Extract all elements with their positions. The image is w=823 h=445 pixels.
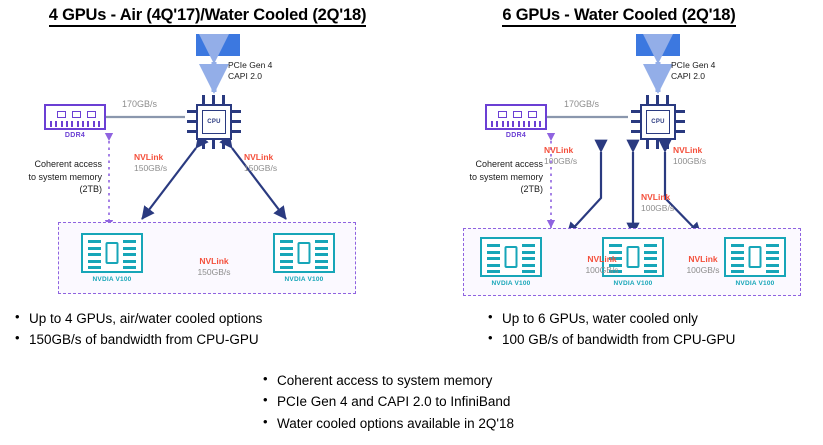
ddr4-module-left: DDR4 [44, 104, 106, 139]
nvlink-name: NVLink [675, 254, 731, 265]
bullets-shared: Coherent access to system memory PCIe Ge… [262, 370, 514, 434]
nvlink-rate: 100GB/s [585, 265, 618, 275]
cpu-label-right: CPU [651, 119, 665, 125]
ddr4-label-right: DDR4 [485, 132, 547, 139]
cpu-body-left: CPU [196, 104, 232, 140]
bullet-shared-0: Coherent access to system memory [262, 370, 514, 391]
nvlink-name: NVLink [574, 254, 630, 265]
gpu-bars-right [123, 240, 136, 269]
nvlink-rate: 150GB/s [197, 267, 230, 277]
ddr4-chip [513, 111, 522, 118]
gpu-bars-right [766, 244, 779, 273]
coherent-access-note-left: Coherent access to system memory (2TB) [10, 158, 102, 196]
panel-title-right: 6 GPUs - Water Cooled (2Q'18) [415, 6, 823, 25]
ddr4-body-left [44, 104, 106, 130]
gpu-icon [81, 233, 143, 273]
nvlink-rate: 100GB/s [641, 203, 674, 213]
pcie-label-left: PCIe Gen 4 CAPI 2.0 [228, 60, 272, 83]
panel-title-right-text: 6 GPUs - Water Cooled (2Q'18) [502, 6, 735, 27]
cpu-body-right: CPU [640, 104, 676, 140]
gpu-core [298, 242, 311, 264]
bullet-right-1: 100 GB/s of bandwidth from CPU-GPU [487, 329, 735, 350]
bullet-shared-1: PCIe Gen 4 and CAPI 2.0 to InfiniBand [262, 391, 514, 412]
pcie-label-right-line2: CAPI 2.0 [671, 71, 715, 82]
gpu-icon [480, 237, 542, 277]
bullet-shared-2: Water cooled options available in 2Q'18 [262, 413, 514, 434]
coherent-line-3: (2TB) [449, 183, 543, 196]
panel-title-left-text: 4 GPUs - Air (4Q'17)/Water Cooled (2Q'18… [49, 6, 367, 27]
ib-label-left: IB [214, 42, 222, 49]
pcie-label-left-line1: PCIe Gen 4 [228, 60, 272, 71]
gpu-label-right-2: NVDIA V100 [724, 280, 786, 287]
nvlink-name: NVLink [641, 192, 674, 203]
nvlink-rate: 100GB/s [673, 156, 706, 166]
gpu-label-left-1: NVDIA V100 [273, 276, 335, 283]
bullets-left: Up to 4 GPUs, air/water cooled options 1… [14, 308, 262, 351]
coherent-line-1: Coherent access [10, 158, 102, 171]
gpu-bars-right [644, 244, 657, 273]
nvlink-rate: 100GB/s [544, 156, 577, 166]
gpu-bars-left [280, 240, 293, 269]
gpu-label-left-0: NVDIA V100 [81, 276, 143, 283]
cpu-gpu-link-label-left-1: NVLink 150GB/s [244, 152, 277, 174]
gpu-bars-right [522, 244, 535, 273]
coherent-line-2: to system memory [449, 171, 543, 184]
cpu-gpu-link-label-right-2: NVLink 100GB/s [673, 145, 706, 167]
coherent-line-1: Coherent access [449, 158, 543, 171]
gpu-bars-left [731, 244, 744, 273]
ddr4-module-right: DDR4 [485, 104, 547, 139]
coherent-line-3: (2TB) [10, 183, 102, 196]
ddr4-chip [72, 111, 81, 118]
gpu-card-left-1: NVDIA V100 [273, 233, 335, 283]
gpu-icon [724, 237, 786, 277]
gpu-gpu-link-label-right-1: NVLink 100GB/s [675, 254, 731, 276]
gpu-core [106, 242, 119, 264]
ib-box-left: IB [196, 34, 240, 56]
bullet-left-0: Up to 4 GPUs, air/water cooled options [14, 308, 262, 329]
memory-bandwidth-label-right: 170GB/s [564, 99, 599, 109]
ddr4-chip [498, 111, 507, 118]
ddr4-pins [50, 121, 100, 127]
cpu-gpu-link-label-right-0: NVLink 100GB/s [544, 145, 577, 167]
ddr4-chip [528, 111, 537, 118]
nvlink-name: NVLink [544, 145, 577, 156]
gpu-card-right-0: NVDIA V100 [480, 237, 542, 287]
pcie-label-right-line1: PCIe Gen 4 [671, 60, 715, 71]
nvlink-rate: 100GB/s [686, 265, 719, 275]
ddr4-label-left: DDR4 [44, 132, 106, 139]
cpu-label-left: CPU [207, 119, 221, 125]
gpu-label-right-1: NVDIA V100 [602, 280, 664, 287]
ddr4-chip [57, 111, 66, 118]
nvlink-name: NVLink [184, 256, 244, 267]
memory-bandwidth-label-left: 170GB/s [122, 99, 157, 109]
bullet-left-1: 150GB/s of bandwidth from CPU-GPU [14, 329, 262, 350]
nvlink-name: NVLink [244, 152, 277, 163]
gpu-core [505, 246, 518, 268]
gpu-bars-right [315, 240, 328, 269]
nvlink-rate: 150GB/s [244, 163, 277, 173]
ib-box-right: IB [636, 34, 680, 56]
nvlink-rate: 150GB/s [134, 163, 167, 173]
gpu-bars-left [487, 244, 500, 273]
gpu-core [749, 246, 762, 268]
coherent-access-note-right: Coherent access to system memory (2TB) [449, 158, 543, 196]
gpu-bars-left [88, 240, 101, 269]
ib-label-right: IB [654, 42, 662, 49]
cpu-chip-right: CPU [632, 96, 684, 148]
bullet-right-0: Up to 6 GPUs, water cooled only [487, 308, 735, 329]
pcie-label-left-line2: CAPI 2.0 [228, 71, 272, 82]
cpu-chip-left: CPU [188, 96, 240, 148]
coherent-line-2: to system memory [10, 171, 102, 184]
gpu-card-left-0: NVDIA V100 [81, 233, 143, 283]
gpu-icon [273, 233, 335, 273]
ddr4-pins [491, 121, 541, 127]
gpu-card-right-2: NVDIA V100 [724, 237, 786, 287]
nvlink-name: NVLink [673, 145, 706, 156]
panel-title-left: 4 GPUs - Air (4Q'17)/Water Cooled (2Q'18… [0, 6, 415, 25]
cpu-gpu-link-label-right-1: NVLink 100GB/s [641, 192, 674, 214]
bullets-right: Up to 6 GPUs, water cooled only 100 GB/s… [487, 308, 735, 351]
cpu-gpu-link-label-left-0: NVLink 150GB/s [134, 152, 167, 174]
gpu-group-right: NVDIA V100 NVDIA V100 NVDIA V100 [463, 228, 801, 296]
pcie-label-right: PCIe Gen 4 CAPI 2.0 [671, 60, 715, 83]
gpu-gpu-link-label-right-0: NVLink 100GB/s [574, 254, 630, 276]
ddr4-body-right [485, 104, 547, 130]
ddr4-chip [87, 111, 96, 118]
gpu-gpu-link-label-left-0: NVLink 150GB/s [184, 256, 244, 278]
nvlink-name: NVLink [134, 152, 167, 163]
gpu-label-right-0: NVDIA V100 [480, 280, 542, 287]
